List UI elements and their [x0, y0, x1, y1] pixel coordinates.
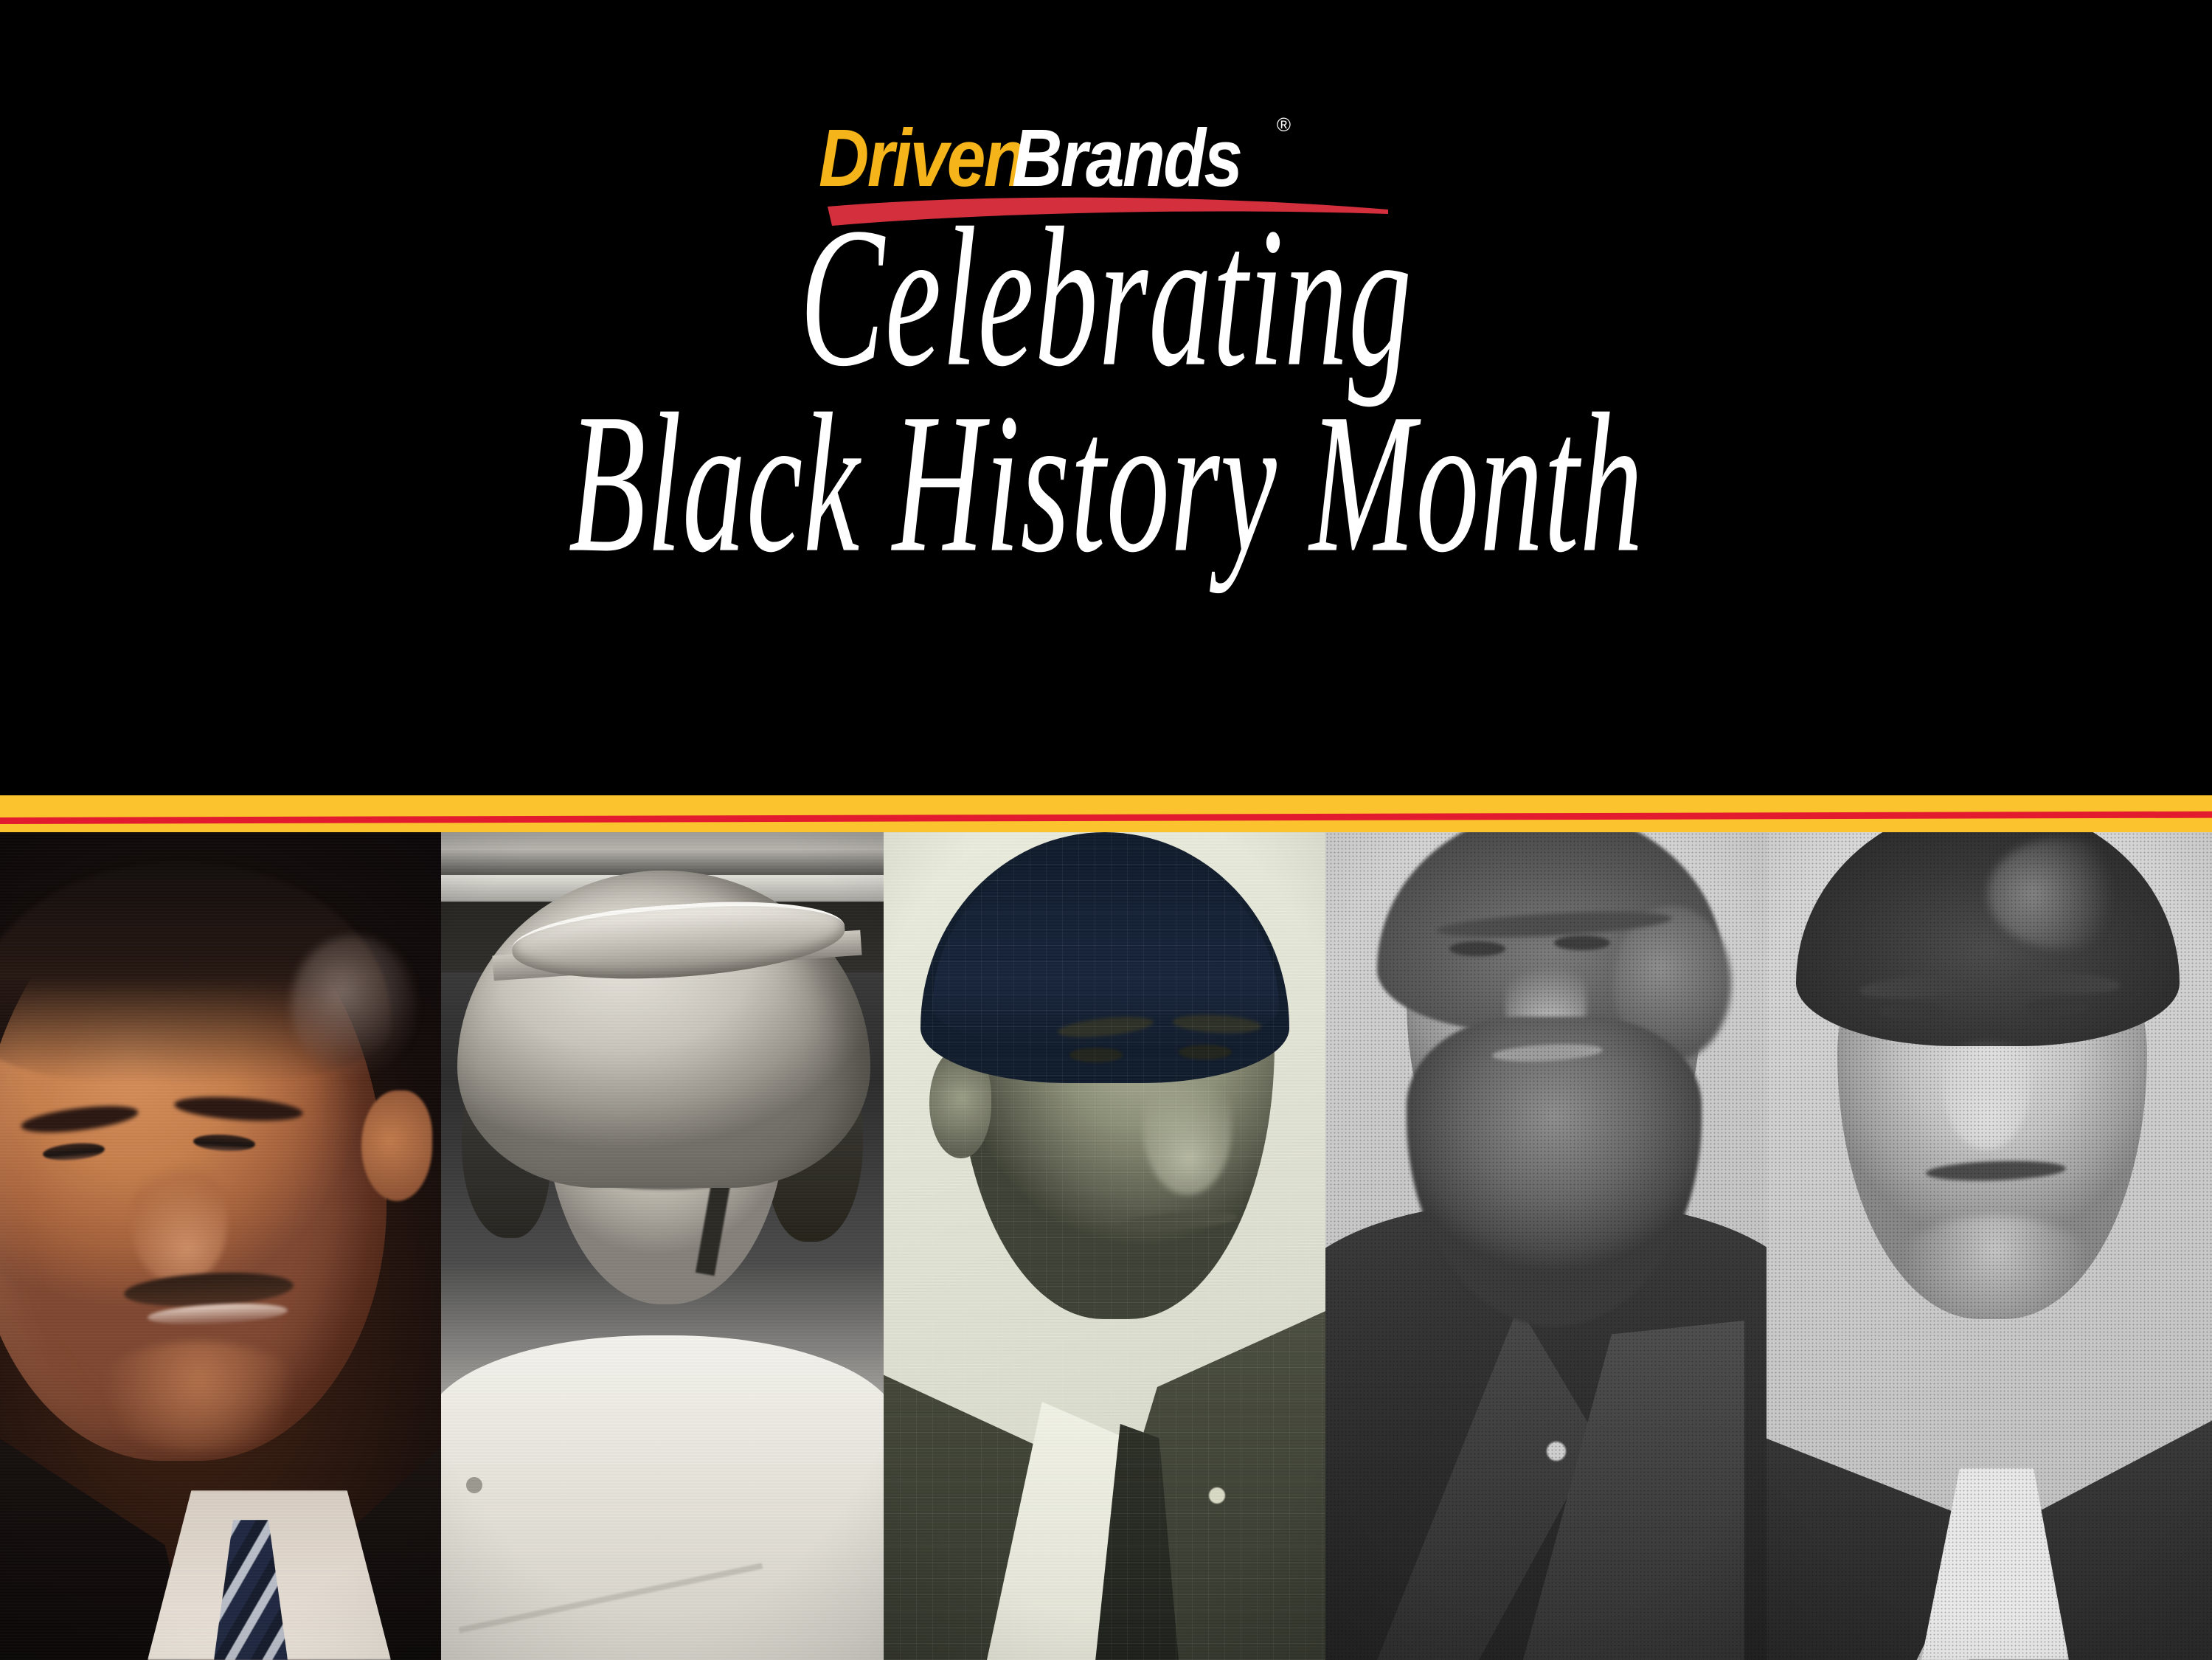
registered-trademark-icon: ®: [1277, 114, 1289, 136]
portrait-panel-2: Race car driver wearing helmet with gogg…: [441, 832, 884, 1660]
headline-line-one: Celebrating: [221, 201, 1991, 393]
page-title: Celebrating Black History Month: [0, 221, 2212, 560]
portrait-panel-1-artwork: [0, 832, 441, 1660]
portrait-panel-1: Smiling man with mustache in white shirt…: [0, 832, 441, 1660]
red-rule-line: [0, 812, 2212, 824]
portrait-panel-2-artwork: [441, 832, 884, 1660]
portrait-panel-4: Elderly bearded man in dark coat with wh…: [1325, 832, 1767, 1660]
headline-line-two: Black History Month: [221, 388, 1991, 580]
portrait-photo-strip: Smiling man with mustache in white shirt…: [0, 832, 2212, 1660]
portrait-panel-3-artwork: [884, 832, 1325, 1660]
gold-divider-band: [0, 795, 2212, 832]
logo-wordmark: DrivenBrands®: [819, 111, 1394, 192]
portrait-panel-3: Man in suit jacket, white shirt and tie …: [884, 832, 1325, 1660]
portrait-panel-5-artwork: [1767, 832, 2212, 1660]
hero-section: DrivenBrands® Celebrating Black History …: [0, 0, 2212, 795]
black-history-month-poster: DrivenBrands® Celebrating Black History …: [0, 0, 2212, 1660]
portrait-panel-5: Young man with parted dark hair in suit …: [1767, 832, 2212, 1660]
portrait-panel-4-artwork: [1325, 832, 1767, 1660]
